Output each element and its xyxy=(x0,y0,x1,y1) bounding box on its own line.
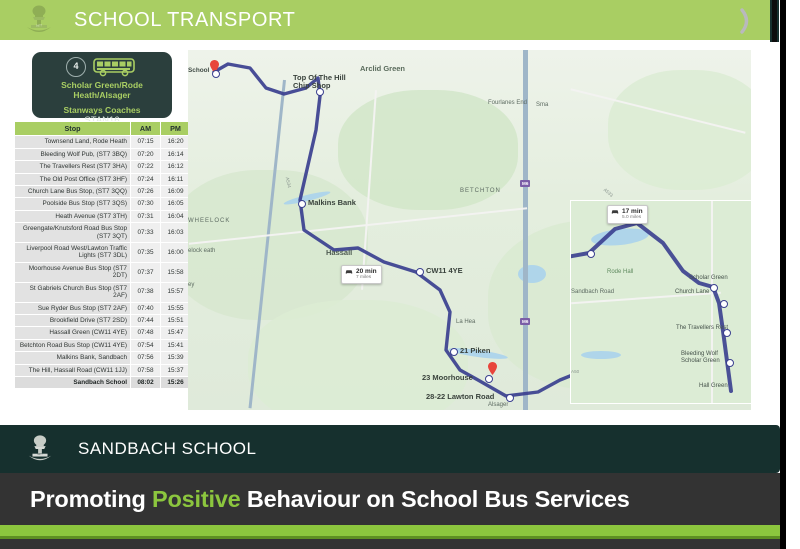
inset-map[interactable]: Rode Hall Scholar Green Church Lane The … xyxy=(570,200,751,404)
stop-name: Moorhouse Avenue Bus Stop (ST7 2DT) xyxy=(15,262,131,282)
map-stop-marker[interactable] xyxy=(587,250,595,258)
stop-am-time: 08:02 xyxy=(131,376,161,388)
table-row: Brookfield Drive (ST7 2SD)07:4415:51 xyxy=(15,314,191,326)
map-stop-marker[interactable] xyxy=(212,70,220,78)
map-label-la-hea: La Hea xyxy=(456,318,480,326)
school-name-band: 1677 SANDBACH SCHOOL xyxy=(0,425,780,473)
table-row: Moorhouse Avenue Bus Stop (ST7 2DT)07:37… xyxy=(15,262,191,282)
stop-am-time: 07:20 xyxy=(131,148,161,160)
svg-text:1677: 1677 xyxy=(37,452,43,456)
map-label-fourlanes-end: Fourlanes End xyxy=(488,100,527,106)
stop-am-time: 07:33 xyxy=(131,223,161,243)
map-label-wheelock: WHEELOCK xyxy=(188,218,230,224)
map-label-cw11-4ye: CW11 4YE xyxy=(426,266,463,275)
school-name: SANDBACH SCHOOL xyxy=(78,439,256,459)
stop-am-time: 07:24 xyxy=(131,173,161,185)
map-label-school: School xyxy=(188,67,209,74)
stop-name: The Travellers Rest (ST7 3HA) xyxy=(15,161,131,173)
stop-pm-time: 15:26 xyxy=(161,376,191,388)
map-label-chip-shop: Top Of The Hill Chip Shop xyxy=(293,74,353,90)
stop-am-time: 07:58 xyxy=(131,364,161,376)
stop-am-time: 07:31 xyxy=(131,210,161,222)
slogan-band: Promoting Positive Behaviour on School B… xyxy=(0,473,780,525)
trip-distance: 7 miles xyxy=(356,275,377,281)
trip-duration: 20 min xyxy=(356,268,377,275)
road-shield-m6: M6 xyxy=(520,180,530,187)
road-label-a50: A50 xyxy=(571,369,579,374)
stop-am-time: 07:48 xyxy=(131,327,161,339)
stop-pm-time: 15:37 xyxy=(161,364,191,376)
map-label-betchton: BETCHTON xyxy=(460,188,501,194)
svg-text:1677: 1677 xyxy=(36,24,43,28)
table-row: The Travellers Rest (ST7 3HA)07:2216:12 xyxy=(15,161,191,173)
map-stop-marker[interactable] xyxy=(298,200,306,208)
table-row: Heath Avenue (ST7 3TH)07:3116:04 xyxy=(15,210,191,222)
map-pin-moorhouse[interactable] xyxy=(488,362,497,375)
stop-name: Sandbach School xyxy=(15,376,131,388)
stop-pm-time: 15:58 xyxy=(161,262,191,282)
page-title: SCHOOL TRANSPORT xyxy=(74,9,296,32)
column-header-pm: PM xyxy=(161,122,191,136)
slogan-text: Promoting Positive Behaviour on School B… xyxy=(30,486,630,513)
route-number-badge: 4 xyxy=(66,57,86,77)
table-row: Greengate/Knutsford Road Bus Stop (ST7 3… xyxy=(15,223,191,243)
stop-name: Bleeding Wolf Pub, (ST7 3BQ) xyxy=(15,148,131,160)
stop-pm-time: 16:12 xyxy=(161,161,191,173)
map-stop-marker[interactable] xyxy=(720,300,728,308)
stop-am-time: 07:56 xyxy=(131,352,161,364)
map-label-church-lane: Church Lane xyxy=(675,289,709,295)
map-label-travellers-rest: The Travellers Rest xyxy=(676,325,728,331)
map-label-hall-green: Hall Green xyxy=(699,383,728,389)
map-label-scholar-green: Scholar Green xyxy=(689,275,728,281)
stop-name: The Hill, Hassall Road (CW11 1JJ) xyxy=(15,364,131,376)
stop-name: Sue Ryder Bus Stop (ST7 2AF) xyxy=(15,302,131,314)
stop-pm-time: 16:09 xyxy=(161,186,191,198)
map-stop-marker[interactable] xyxy=(416,268,424,276)
stop-pm-time: 16:00 xyxy=(161,243,191,263)
map-stop-marker[interactable] xyxy=(506,394,514,402)
map-label-wheelock-heath: elock eath xyxy=(188,248,222,255)
table-row: The Hill, Hassall Road (CW11 1JJ)07:5815… xyxy=(15,364,191,376)
stop-name: Malkins Bank, Sandbach xyxy=(15,352,131,364)
trip-duration-badge: 20 min 7 miles xyxy=(341,265,382,284)
stop-am-time: 07:22 xyxy=(131,161,161,173)
map-stop-marker[interactable] xyxy=(726,359,734,367)
map-label-ey: ey xyxy=(188,282,194,288)
stop-am-time: 07:15 xyxy=(131,136,161,148)
map-label-sma: Sma xyxy=(536,102,548,108)
table-row: The Old Post Office (ST7 3HF)07:2416:11 xyxy=(15,173,191,185)
stop-pm-time: 16:03 xyxy=(161,223,191,243)
table-row: Sue Ryder Bus Stop (ST7 2AF)07:4015:55 xyxy=(15,302,191,314)
road-shield-m6: M6 xyxy=(520,318,530,325)
stop-am-time: 07:37 xyxy=(131,262,161,282)
map-label-hassall: Hassall xyxy=(326,248,352,257)
timetable-header-row: Stop AM PM xyxy=(15,122,191,136)
table-row: St Gabriels Church Bus Stop (ST7 2AF)07:… xyxy=(15,282,191,302)
map-label-21-piken: 21 Piken xyxy=(460,346,490,355)
stop-name: Heath Avenue (ST7 3TH) xyxy=(15,210,131,222)
stop-pm-time: 15:39 xyxy=(161,352,191,364)
slogan-part1: Promoting xyxy=(30,486,152,512)
stop-pm-time: 15:41 xyxy=(161,339,191,351)
map-label-23-moorhouse: 23 Moorhouse xyxy=(422,373,473,382)
column-header-am: AM xyxy=(131,122,161,136)
stop-name: The Old Post Office (ST7 3HF) xyxy=(15,173,131,185)
top-header: 1677 SCHOOL TRANSPORT xyxy=(0,0,770,40)
school-crest-icon: 1677 xyxy=(22,3,56,37)
stop-pm-time: 16:20 xyxy=(161,136,191,148)
table-row: Church Lane Bus Stop, (ST7 3QQ)07:2616:0… xyxy=(15,186,191,198)
map-stop-marker[interactable] xyxy=(710,284,718,292)
stop-name: Liverpool Road West/Lawton Traffic Light… xyxy=(15,243,131,263)
map-label-arclid-green: Arclid Green xyxy=(360,64,405,73)
stop-pm-time: 16:11 xyxy=(161,173,191,185)
map-label-malkins-bank: Malkins Bank xyxy=(308,198,356,207)
footer-dark-strip xyxy=(0,539,780,549)
stop-am-time: 07:30 xyxy=(131,198,161,210)
stop-name: Townsend Land, Rode Heath xyxy=(15,136,131,148)
stop-name: Greengate/Knutsford Road Bus Stop (ST7 3… xyxy=(15,223,131,243)
car-icon xyxy=(611,208,619,215)
table-row: Townsend Land, Rode Heath07:1516:20 xyxy=(15,136,191,148)
stop-pm-time: 15:55 xyxy=(161,302,191,314)
chevron-right-icon[interactable] xyxy=(738,6,754,36)
table-row: Malkins Bank, Sandbach07:5615:39 xyxy=(15,352,191,364)
map-label-lawton-road: 28-22 Lawton Road xyxy=(426,392,494,401)
slide-edge-white xyxy=(786,0,800,549)
stop-name: Poolside Bus Stop (ST7 3QS) xyxy=(15,198,131,210)
stop-am-time: 07:40 xyxy=(131,302,161,314)
school-crest-icon: 1677 xyxy=(24,432,56,466)
car-icon xyxy=(345,268,353,275)
table-row: Poolside Bus Stop (ST7 3QS)07:3016:05 xyxy=(15,198,191,210)
table-row: Hassall Green (CW11 4YE)07:4815:47 xyxy=(15,327,191,339)
map-label-sandbach-road: Sandbach Road xyxy=(571,289,614,295)
table-row: Betchton Road Bus Stop (CW11 4YE)07:5415… xyxy=(15,339,191,351)
stop-am-time: 07:38 xyxy=(131,282,161,302)
table-row: Bleeding Wolf Pub, (ST7 3BQ)07:2016:14 xyxy=(15,148,191,160)
map-label-bleeding-wolf: Bleeding Wolf Scholar Green xyxy=(681,351,727,365)
inset-duration: 17 min xyxy=(622,208,643,215)
stop-name: Hassall Green (CW11 4YE) xyxy=(15,327,131,339)
stop-am-time: 07:54 xyxy=(131,339,161,351)
slide-right-rail-dark xyxy=(772,0,777,42)
bus-icon xyxy=(92,57,138,77)
slide-page: 1677 SCHOOL TRANSPORT 4 xyxy=(0,0,800,549)
stop-name: Church Lane Bus Stop, (ST7 3QQ) xyxy=(15,186,131,198)
map-stop-marker[interactable] xyxy=(485,375,493,383)
stop-name: Brookfield Drive (ST7 2SD) xyxy=(15,314,131,326)
map-label-alsager: Alsager xyxy=(488,402,508,408)
slogan-highlight: Positive xyxy=(152,486,241,512)
stop-name: Betchton Road Bus Stop (CW11 4YE) xyxy=(15,339,131,351)
table-row: Sandbach School08:0215:26 xyxy=(15,376,191,388)
inset-distance: 5.0 miles xyxy=(622,215,643,221)
stop-pm-time: 16:05 xyxy=(161,198,191,210)
map-stop-marker[interactable] xyxy=(450,348,458,356)
stop-am-time: 07:44 xyxy=(131,314,161,326)
column-header-stop: Stop xyxy=(15,122,131,136)
route-info-card: 4 Scholar Green/Rode Heath/Alsager Stanw… xyxy=(32,52,172,118)
route-map[interactable]: School Top Of The Hill Chip Shop Malkins… xyxy=(188,50,751,410)
route-name: Scholar Green/Rode Heath/Alsager xyxy=(32,80,172,100)
route-operator: Stanways Coaches xyxy=(32,105,172,115)
map-label-rode-hall: Rode Hall xyxy=(607,269,633,275)
stop-name: St Gabriels Church Bus Stop (ST7 2AF) xyxy=(15,282,131,302)
stop-pm-time: 15:47 xyxy=(161,327,191,339)
stop-pm-time: 16:14 xyxy=(161,148,191,160)
inset-duration-badge: 17 min 5.0 miles xyxy=(607,205,648,224)
slogan-part2: Behaviour on School Bus Services xyxy=(241,486,630,512)
table-row: Liverpool Road West/Lawton Traffic Light… xyxy=(15,243,191,263)
timetable: Stop AM PM Townsend Land, Rode Heath07:1… xyxy=(14,121,191,389)
stop-pm-time: 16:04 xyxy=(161,210,191,222)
stop-pm-time: 15:57 xyxy=(161,282,191,302)
stop-am-time: 07:26 xyxy=(131,186,161,198)
stop-am-time: 07:35 xyxy=(131,243,161,263)
stop-pm-time: 15:51 xyxy=(161,314,191,326)
